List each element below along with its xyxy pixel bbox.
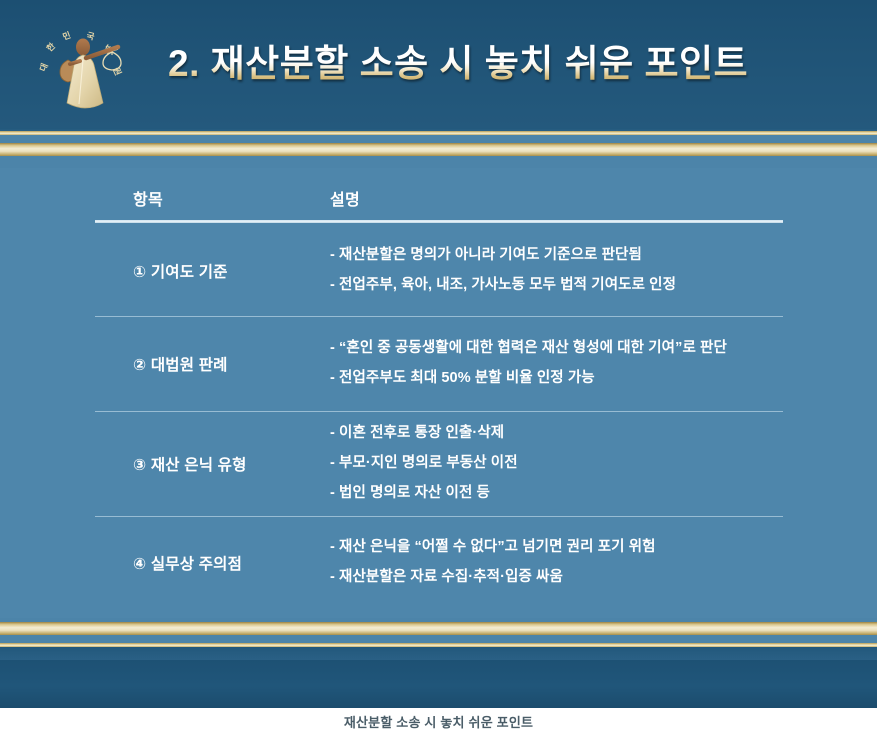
description-line: - 재산 은닉을 “어쩔 수 없다”고 넘기면 권리 포기 위험 (330, 533, 783, 563)
description-line: - 전업주부도 최대 50% 분할 비율 인정 가능 (330, 364, 783, 394)
svg-text:민: 민 (61, 30, 72, 42)
column-header-description: 설명 (310, 186, 783, 210)
table-header-row: 항목 설명 (95, 176, 783, 220)
row-label-supreme-court-precedent: ② 대법원 판례 (95, 353, 310, 375)
korean-court-emblem-icon: 대 한 민 국 법 원 (26, 16, 134, 114)
svg-text:원: 원 (111, 66, 123, 77)
page-title: 2. 재산분할 소송 시 놓치 쉬운 포인트 (168, 43, 748, 86)
row-label-asset-concealment-types: ③ 재산 은닉 유형 (95, 453, 310, 475)
row-description: - 재산 은닉을 “어쩔 수 없다”고 넘기면 권리 포기 위험 - 재산분할은… (310, 519, 783, 606)
band-dark-edge-2 (0, 647, 877, 660)
table-row: ③ 재산 은닉 유형 - 이혼 전후로 통장 인출·삭제 - 부모·지인 명의로… (95, 412, 783, 517)
description-line: - 부모·지인 명의로 부동산 이전 (330, 449, 783, 479)
row-description: - 재산분할은 명의가 아니라 기여도 기준으로 판단됨 - 전업주부, 육아,… (310, 227, 783, 314)
slide-caption: 재산분할 소송 시 놓치 쉬운 포인트 (0, 708, 877, 734)
footer-bar (0, 660, 877, 708)
svg-text:대: 대 (38, 62, 50, 73)
table-row: ④ 실무상 주의점 - 재산 은닉을 “어쩔 수 없다”고 넘기면 권리 포기 … (95, 517, 783, 609)
points-table: 항목 설명 ① 기여도 기준 - 재산분할은 명의가 아니라 기여도 기준으로 … (95, 176, 783, 609)
band-blue-gap-1 (0, 135, 877, 143)
description-line: - 재산분할은 자료 수집·추적·입증 싸움 (330, 563, 783, 593)
bottom-gold-divider (0, 618, 877, 660)
band-blue-gap-4 (0, 635, 877, 643)
description-line: - 재산분할은 명의가 아니라 기여도 기준으로 판단됨 (330, 241, 783, 271)
table-header-rule (95, 220, 783, 223)
row-description: - “혼인 중 공동생활에 대한 협력은 재산 형성에 대한 기여”로 판단 -… (310, 320, 783, 407)
svg-text:한: 한 (44, 41, 57, 54)
row-label-practical-cautions: ④ 실무상 주의점 (95, 552, 310, 574)
row-description: - 이혼 전후로 통장 인출·삭제 - 부모·지인 명의로 부동산 이전 - 법… (310, 405, 783, 522)
description-line: - 이혼 전후로 통장 인출·삭제 (330, 419, 783, 449)
description-line: - 법인 명의로 자산 이전 등 (330, 479, 783, 509)
table-row: ② 대법원 판례 - “혼인 중 공동생활에 대한 협력은 재산 형성에 대한 … (95, 317, 783, 412)
top-gold-divider (0, 128, 877, 168)
row-label-contribution-standard: ① 기여도 기준 (95, 260, 310, 282)
caption-text: 재산분할 소송 시 놓치 쉬운 포인트 (344, 712, 533, 731)
table-row: ① 기여도 기준 - 재산분할은 명의가 아니라 기여도 기준으로 판단됨 - … (95, 225, 783, 317)
description-line: - “혼인 중 공동생활에 대한 협력은 재산 형성에 대한 기여”로 판단 (330, 334, 783, 364)
band-gold-thick-2 (0, 622, 877, 635)
column-header-item: 항목 (95, 186, 310, 210)
band-gold-thick (0, 143, 877, 156)
description-line: - 전업주부, 육아, 내조, 가사노동 모두 법적 기여도로 인정 (330, 271, 783, 301)
slide-root: 대 한 민 국 법 원 (0, 0, 877, 734)
slide-header: 대 한 민 국 법 원 (0, 0, 877, 128)
page-title-container: 2. 재산분할 소송 시 놓치 쉬운 포인트 (168, 30, 858, 98)
band-blue-gap-2 (0, 156, 877, 168)
